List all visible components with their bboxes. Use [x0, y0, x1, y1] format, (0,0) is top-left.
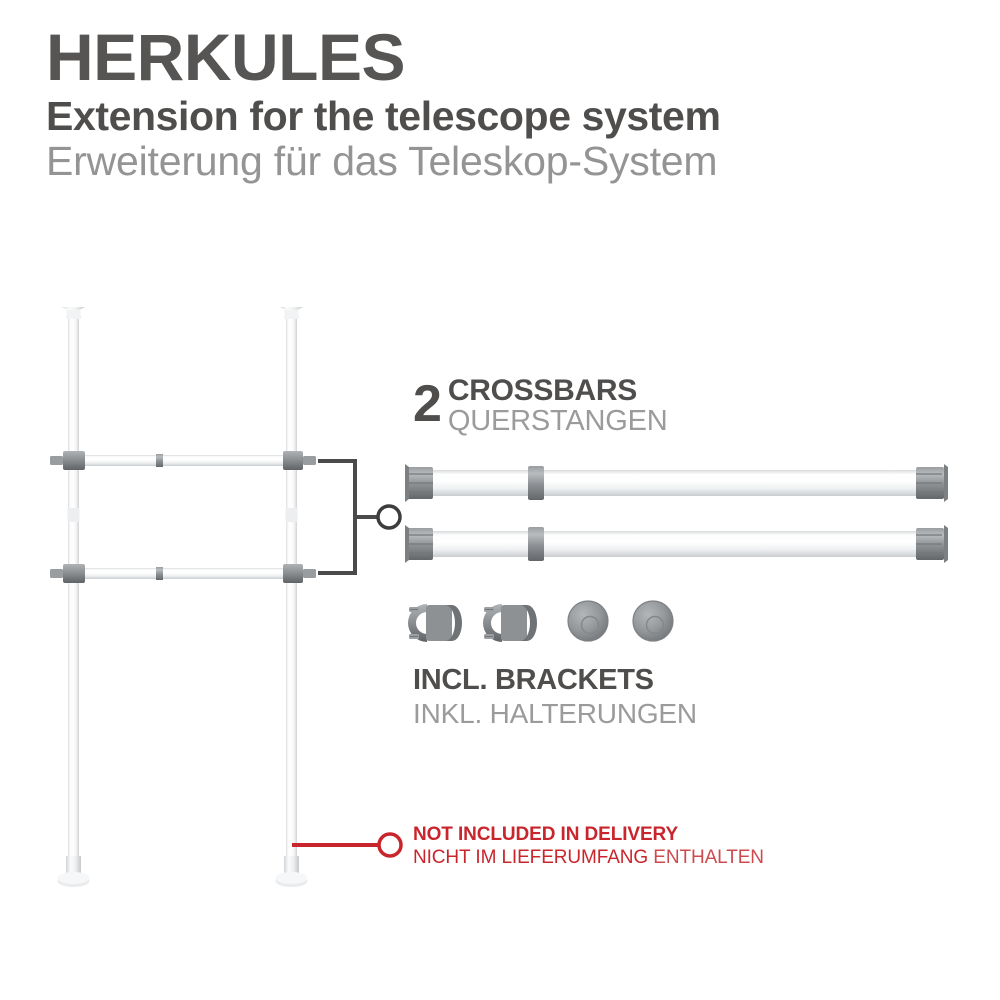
pole-foot-right-icon [276, 856, 308, 887]
not-included-german: NICHT IM LIEFERUMFANG ENTHALTEN [413, 846, 764, 869]
round-end-cap-icon [633, 601, 673, 641]
not-included-note: NOT INCLUDED IN DELIVERY NICHT IM LIEFER… [413, 824, 764, 869]
crossbar-collar-icon [528, 466, 544, 500]
crossbars-count: 2 [413, 378, 442, 430]
crossbar-collar-icon [528, 527, 544, 561]
crossbar-end-cap-left-icon [405, 525, 433, 563]
product-crossbar-1 [405, 464, 948, 502]
not-included-german-strong: NICHT IM LIEFERUMFANG [413, 847, 648, 868]
callout-circle-icon [378, 506, 400, 528]
crossbars-label-german: QUERSTANGEN [413, 406, 633, 437]
mounted-crossbar-lower [50, 564, 316, 583]
not-included-german-soft: ENTHALTEN [653, 847, 764, 868]
round-end-cap-icon [568, 601, 608, 641]
pole-foot-left-icon [58, 856, 90, 887]
clamp-bracket-icon [408, 604, 462, 642]
brackets-label-german: INKL. HALTERUNGEN [413, 698, 697, 729]
crossbar-end-cap-right-icon [916, 525, 948, 563]
clamp-bracket-icon [483, 604, 537, 642]
product-crossbar-2 [405, 525, 948, 563]
not-included-leader-line [292, 834, 401, 856]
crossbars-label-english: CROSSBARS [413, 376, 633, 406]
telescope-pole-right [276, 307, 308, 887]
crossbar-end-cap-right-icon [916, 464, 948, 502]
warning-callout-circle-icon [379, 834, 401, 856]
crossbar-end-cap-left-icon [405, 464, 433, 502]
brackets-label-english: INCL. BRACKETS [413, 665, 697, 695]
bracket-hardware-row [408, 601, 673, 642]
crossbars-callout: 2 CROSSBARS QUERSTANGEN [413, 376, 633, 437]
mounted-crossbar-upper [50, 451, 316, 470]
crossbar-leader-line [318, 461, 400, 573]
telescope-pole-left [58, 307, 90, 887]
telescope-pole-assembly [50, 307, 316, 887]
brackets-callout: INCL. BRACKETS INKL. HALTERUNGEN [413, 665, 697, 729]
not-included-english: NOT INCLUDED IN DELIVERY [413, 824, 764, 846]
product-infographic: HERKULES Extension for the telescope sys… [0, 0, 1000, 1000]
